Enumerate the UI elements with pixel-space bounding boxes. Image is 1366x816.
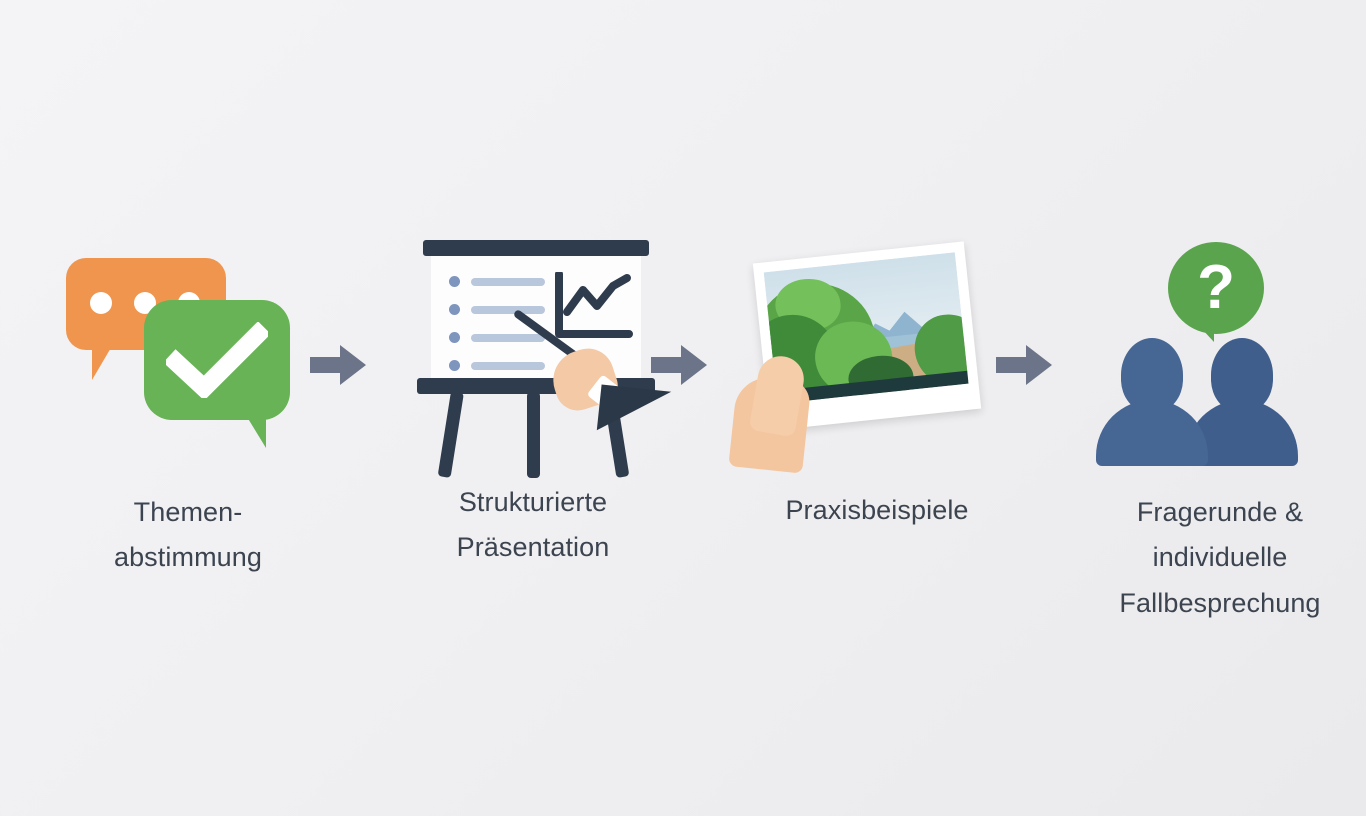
step-4-label-line2: individuelle [1070,535,1366,580]
flipchart-leg-left [438,391,464,478]
step-4-caption: Fragerunde & individuelle Fallbesprechun… [1070,490,1366,626]
question-mark-glyph: ? [1168,242,1264,334]
connector-arrow-1 [310,342,366,388]
step-1-caption: Themen- abstimmung [38,490,338,581]
flipchart-leg-middle [527,392,540,478]
line-chart-icon [553,272,633,350]
two-people-question-icon: ? [1090,242,1350,472]
step-2-label-line2: Präsentation [383,525,683,570]
step-4-label-line1: Fragerunde & [1070,490,1366,535]
suit-sleeve [597,384,671,437]
step-4-label-line3: Fallbesprechung [1070,581,1366,626]
question-speech-bubble-icon: ? [1168,242,1264,334]
step-1-label-line2: abstimmung [38,535,338,580]
speech-bubbles-agreement-icon [58,242,318,472]
step-1-label-line1: Themen- [38,490,338,535]
flipchart-top-bar [423,240,649,256]
process-step-2: Strukturierte Präsentation [383,232,683,571]
connector-arrow-2 [651,342,707,388]
step-3-label-line1: Praxisbeispiele [727,488,1027,533]
step-2-caption: Strukturierte Präsentation [383,480,683,571]
person-body [1096,400,1208,466]
process-flow-diagram: Themen- abstimmung [0,0,1366,816]
process-step-4: ? Fragerunde & individuelle Fallbesprech… [1070,242,1366,626]
hand-holding-photo-icon [747,240,1007,470]
flipchart-presentation-icon [403,232,663,462]
step-3-caption: Praxisbeispiele [727,488,1027,533]
person-silhouette-left [1096,338,1208,466]
checkmark-icon [166,322,268,398]
process-step-1: Themen- abstimmung [38,242,338,581]
process-step-3: Praxisbeispiele [727,240,1027,533]
connector-arrow-3 [996,342,1052,388]
step-2-label-line1: Strukturierte [383,480,683,525]
chat-bubble-green-icon [144,300,290,420]
